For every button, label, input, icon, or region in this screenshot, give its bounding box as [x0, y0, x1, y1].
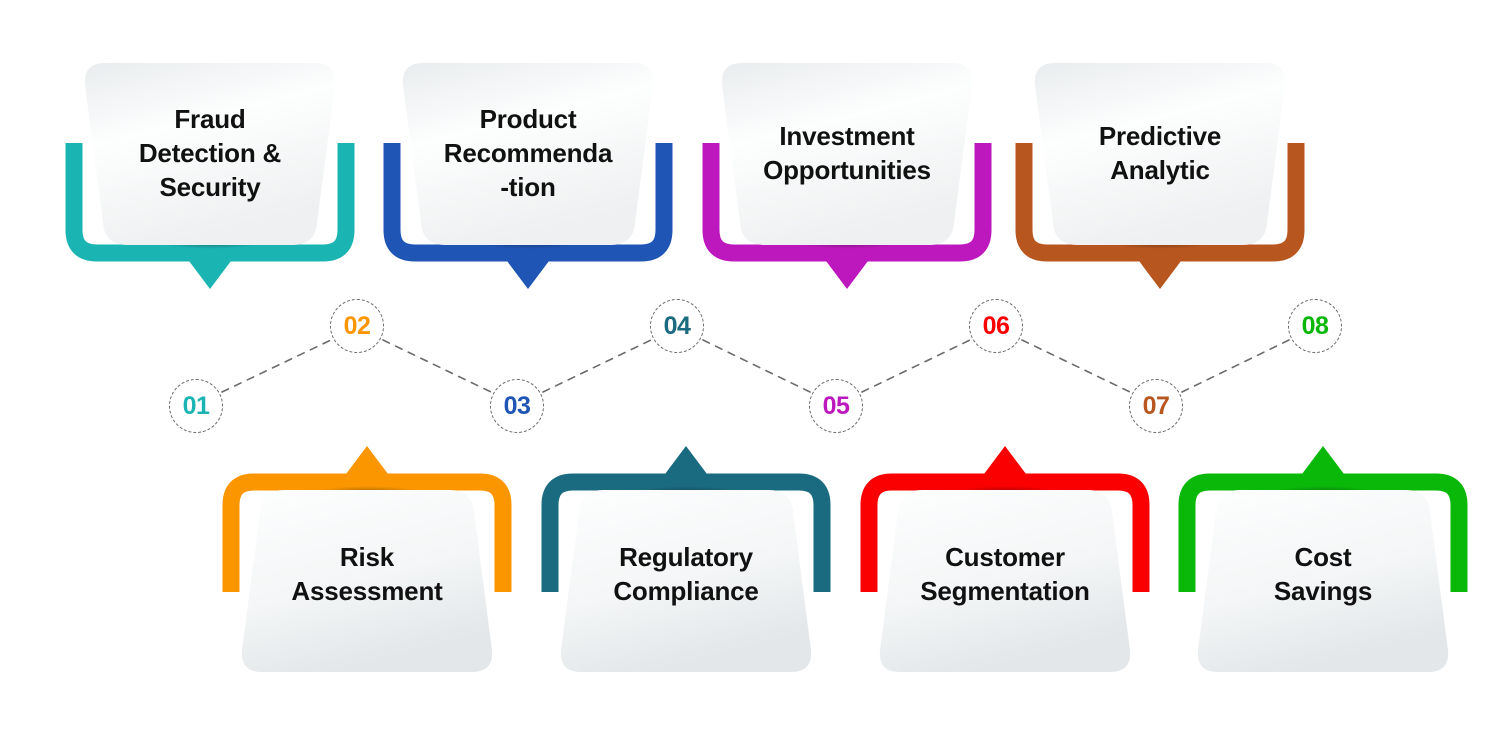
- connector-06-07: [1022, 340, 1130, 392]
- node-top-4[interactable]: Predictive Analytic: [1015, 55, 1305, 295]
- step-number-label: 07: [1143, 394, 1170, 419]
- step-number-badge-04[interactable]: 04: [650, 299, 704, 353]
- step-number-badge-08[interactable]: 08: [1288, 299, 1342, 353]
- card-body-overlay: Regulatory Compliance: [559, 482, 813, 668]
- step-number-badge-01[interactable]: 01: [169, 379, 223, 433]
- connector-07-08: [1182, 340, 1289, 392]
- node-label: Product Recommenda -tion: [430, 103, 627, 204]
- step-number-label: 05: [823, 394, 850, 419]
- connector-03-04: [543, 340, 651, 392]
- step-number-label: 02: [344, 314, 371, 339]
- node-label: Risk Assessment: [277, 541, 456, 609]
- connector-05-06: [862, 340, 970, 392]
- step-number-label: 03: [504, 394, 531, 419]
- node-top-3[interactable]: Investment Opportunities: [702, 55, 992, 295]
- card-body-overlay: Investment Opportunities: [720, 63, 974, 245]
- node-bottom-1[interactable]: Risk Assessment: [222, 440, 512, 680]
- card-body-overlay: Customer Segmentation: [878, 482, 1132, 668]
- node-label: Customer Segmentation: [906, 541, 1104, 609]
- arrow-down: [177, 245, 243, 289]
- connector-04-05: [703, 340, 810, 392]
- connector-01-02: [222, 340, 331, 392]
- step-number-badge-07[interactable]: 07: [1129, 379, 1183, 433]
- step-number-badge-06[interactable]: 06: [969, 299, 1023, 353]
- step-number-badge-03[interactable]: 03: [490, 379, 544, 433]
- step-number-label: 01: [183, 394, 210, 419]
- infographic-diagram: Fraud Detection & Security Product Recom…: [0, 0, 1512, 737]
- step-number-label: 08: [1302, 314, 1329, 339]
- node-top-2[interactable]: Product Recommenda -tion: [383, 55, 673, 295]
- arrow-down: [1127, 245, 1193, 289]
- card-body-overlay: Product Recommenda -tion: [401, 63, 655, 245]
- step-number-badge-05[interactable]: 05: [809, 379, 863, 433]
- node-label: Fraud Detection & Security: [125, 103, 295, 204]
- arrow-down: [814, 245, 880, 289]
- arrow-down: [495, 245, 561, 289]
- node-label: Predictive Analytic: [1085, 120, 1235, 188]
- node-bottom-3[interactable]: Customer Segmentation: [860, 440, 1150, 680]
- card-body-overlay: Predictive Analytic: [1033, 63, 1287, 245]
- card-body-overlay: Risk Assessment: [240, 482, 494, 668]
- node-label: Cost Savings: [1260, 541, 1386, 609]
- node-bottom-4[interactable]: Cost Savings: [1178, 440, 1468, 680]
- step-number-badge-02[interactable]: 02: [330, 299, 384, 353]
- node-bottom-2[interactable]: Regulatory Compliance: [541, 440, 831, 680]
- step-number-label: 04: [664, 314, 691, 339]
- node-top-1[interactable]: Fraud Detection & Security: [65, 55, 355, 295]
- step-number-label: 06: [983, 314, 1010, 339]
- connector-02-03: [383, 340, 491, 392]
- card-body-overlay: Cost Savings: [1196, 482, 1450, 668]
- node-label: Regulatory Compliance: [599, 541, 772, 609]
- card-body-overlay: Fraud Detection & Security: [83, 63, 337, 245]
- node-label: Investment Opportunities: [749, 120, 945, 188]
